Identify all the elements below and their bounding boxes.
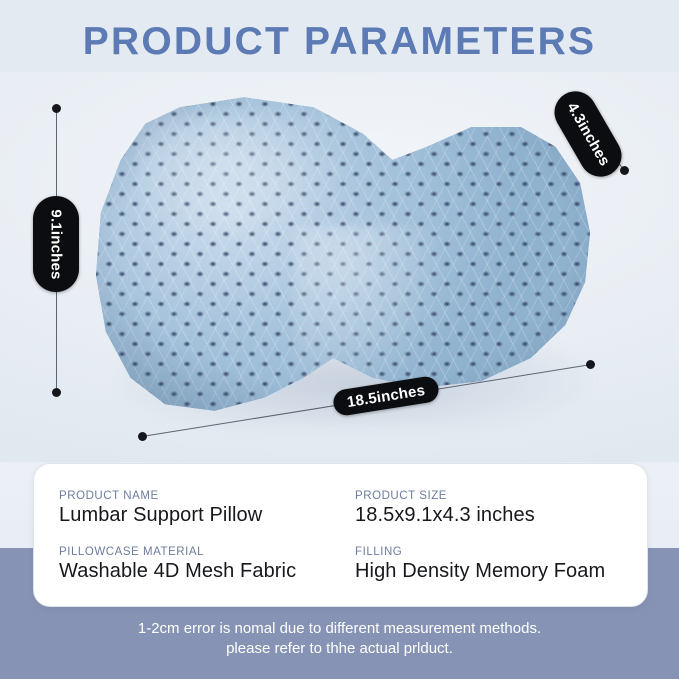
height-label-pill: 9.1inches: [33, 196, 79, 292]
disclaimer-text: 1-2cm error is nomal due to different me…: [0, 619, 679, 659]
spec-item-pillowcase-material: PILLOWCASE MATERIAL Washable 4D Mesh Fab…: [59, 536, 351, 592]
pillow-image: [96, 94, 590, 424]
spec-value: Lumbar Support Pillow: [59, 504, 351, 527]
spec-card: PRODUCT NAME Lumbar Support Pillow PRODU…: [33, 463, 648, 607]
disclaimer-line-1: 1-2cm error is nomal due to different me…: [40, 619, 639, 639]
spec-value: 18.5x9.1x4.3 inches: [355, 504, 647, 527]
page-title: PRODUCT PARAMETERS: [0, 20, 679, 64]
height-endpoint-bottom-dot: [52, 388, 61, 397]
spec-item-product-name: PRODUCT NAME Lumbar Support Pillow: [59, 480, 351, 536]
width-endpoint-left-dot: [138, 432, 147, 441]
spec-label: FILLING: [355, 546, 647, 558]
spec-item-product-size: PRODUCT SIZE 18.5x9.1x4.3 inches: [355, 480, 647, 536]
height-label-text: 9.1inches: [48, 209, 65, 279]
depth-endpoint-bottom-dot: [620, 166, 629, 175]
pillow-mesh-fabric: [96, 94, 590, 424]
spec-label: PRODUCT SIZE: [355, 490, 647, 502]
spec-label: PRODUCT NAME: [59, 490, 351, 502]
width-endpoint-right-dot: [586, 360, 595, 369]
spec-value: Washable 4D Mesh Fabric: [59, 560, 351, 583]
infographic-canvas: PRODUCT PARAMETERS 9.1inches 4.3inches 1…: [0, 0, 679, 679]
spec-value: High Density Memory Foam: [355, 560, 647, 583]
disclaimer-line-2: please refer to thhe actual prlduct.: [40, 639, 639, 659]
spec-item-filling: FILLING High Density Memory Foam: [355, 536, 647, 592]
spec-label: PILLOWCASE MATERIAL: [59, 546, 351, 558]
height-endpoint-top-dot: [52, 104, 61, 113]
